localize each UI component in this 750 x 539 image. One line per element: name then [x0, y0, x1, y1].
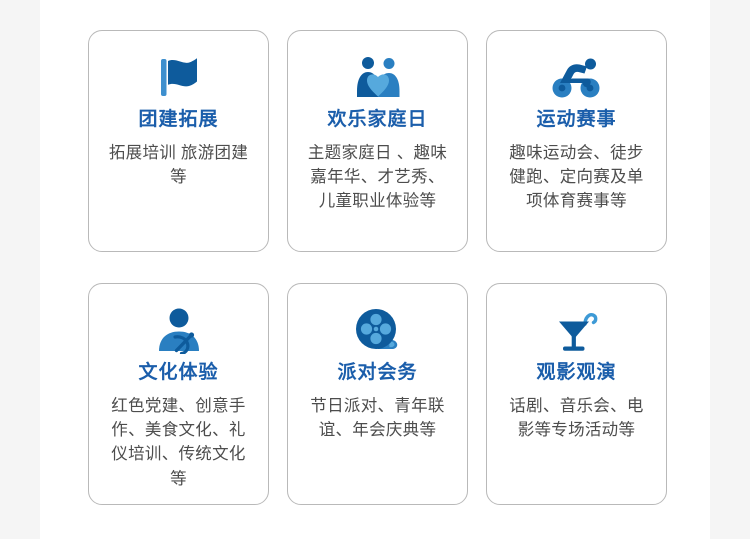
cocktail-icon: [553, 306, 601, 356]
service-card-team-building[interactable]: 团建拓展 拓展培训 旅游团建等: [88, 30, 269, 252]
service-card-culture-experience[interactable]: 文化体验 红色党建、创意手作、美食文化、礼仪培训、传统文化等: [88, 283, 269, 505]
card-description: 红色党建、创意手作、美食文化、礼仪培训、传统文化等: [97, 394, 260, 491]
card-title: 团建拓展: [138, 109, 218, 132]
card-title: 运动赛事: [536, 109, 616, 132]
service-card-family-day[interactable]: 欢乐家庭日 主题家庭日 、趣味嘉年华、才艺秀、儿童职业体验等: [287, 30, 468, 252]
card-description: 趣味运动会、徒步健跑、定向赛及单项体育赛事等: [495, 141, 658, 214]
card-description: 话剧、音乐会、电影等专场活动等: [495, 394, 658, 443]
flag-icon: [156, 53, 202, 103]
card-title: 欢乐家庭日: [327, 109, 427, 132]
card-title: 文化体验: [138, 362, 218, 385]
party-member-icon: [155, 306, 203, 356]
service-card-shows[interactable]: 观影观演 话剧、音乐会、电影等专场活动等: [486, 283, 667, 505]
card-description: 节日派对、青年联谊、年会庆典等: [296, 394, 459, 443]
film-reel-icon: [354, 306, 402, 356]
family-icon: [353, 53, 403, 103]
card-description: 主题家庭日 、趣味嘉年华、才艺秀、儿童职业体验等: [296, 141, 459, 214]
card-title: 观影观演: [536, 362, 616, 385]
page-root: 团建拓展 拓展培训 旅游团建等 欢乐家庭日 主题家庭日 、趣味嘉年华、才艺秀、儿…: [0, 0, 750, 539]
service-category-grid: 团建拓展 拓展培训 旅游团建等 欢乐家庭日 主题家庭日 、趣味嘉年华、才艺秀、儿…: [88, 30, 668, 505]
card-title: 派对会务: [337, 362, 417, 385]
content-panel: 团建拓展 拓展培训 旅游团建等 欢乐家庭日 主题家庭日 、趣味嘉年华、才艺秀、儿…: [40, 0, 710, 539]
card-description: 拓展培训 旅游团建等: [97, 141, 260, 190]
service-card-party-events[interactable]: 派对会务 节日派对、青年联谊、年会庆典等: [287, 283, 468, 505]
service-card-sports-events[interactable]: 运动赛事 趣味运动会、徒步健跑、定向赛及单项体育赛事等: [486, 30, 667, 252]
cyclist-icon: [551, 53, 603, 103]
